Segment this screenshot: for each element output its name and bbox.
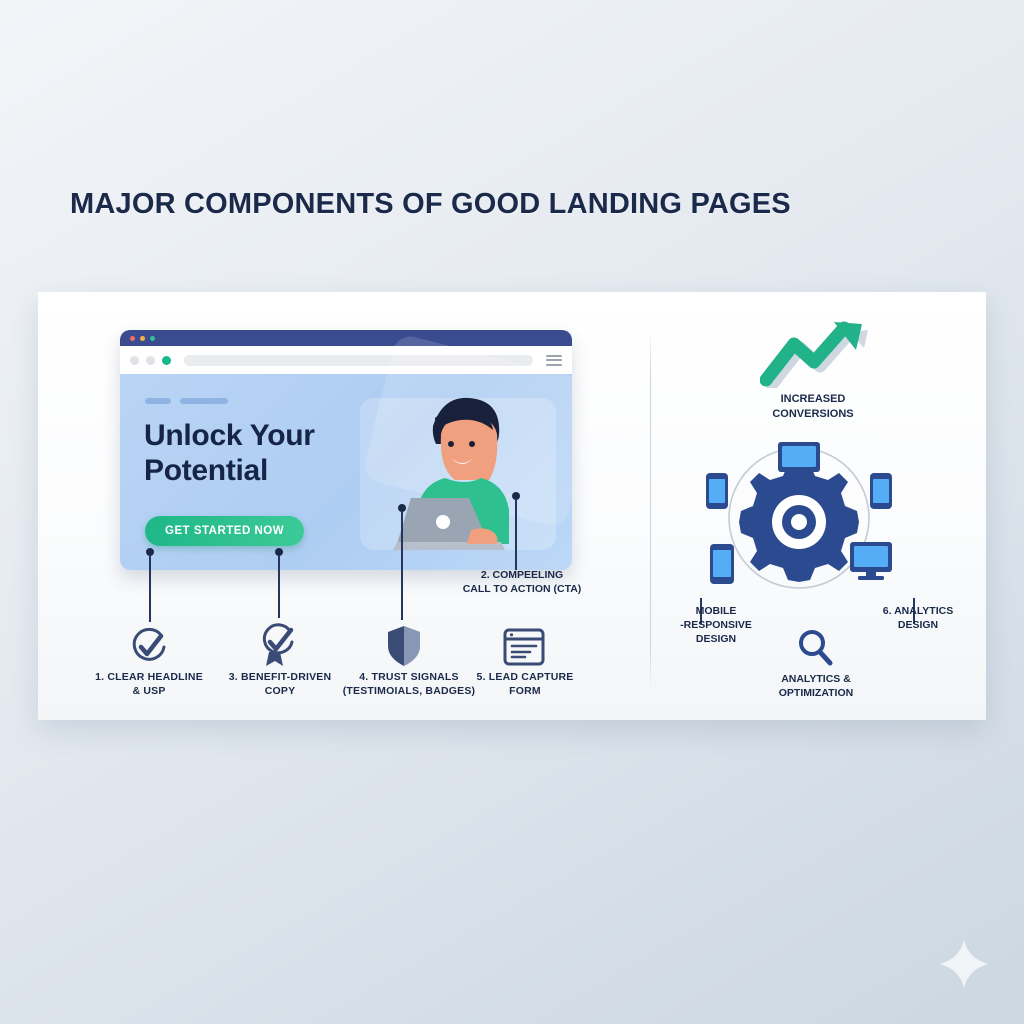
component-1-label: 1. CLEAR HEADLINE & USP <box>79 670 219 698</box>
component-3[interactable] <box>257 622 301 673</box>
connector-line-1 <box>149 556 151 622</box>
analytics-design-line1: 6. ANALYTICS <box>860 604 976 618</box>
infographic-canvas: MAJOR COMPONENTS OF GOOD LANDING PAGES U… <box>0 0 1024 1024</box>
mobile-responsive-line3: DESIGN <box>654 632 778 646</box>
shield-icon <box>385 624 423 668</box>
search-icon <box>796 628 834 666</box>
window-minimize-dot-icon[interactable] <box>140 336 145 341</box>
increased-conversions-line1: INCREASED <box>748 392 878 407</box>
cta-callout-line2: CALL TO ACTION (CTA) <box>452 582 592 596</box>
component-4-label-line1: 4. TRUST SIGNALS <box>331 670 487 684</box>
analytics-optimization-line1: ANALYTICS & <box>752 672 880 686</box>
component-1-label-line2: & USP <box>79 684 219 698</box>
phone-icon-left-lower <box>710 544 734 584</box>
component-1[interactable] <box>128 626 170 673</box>
hamburger-icon[interactable] <box>546 355 562 366</box>
window-close-dot-icon[interactable] <box>130 336 135 341</box>
component-3-label-line1: 3. BENEFIT-DRIVEN <box>209 670 351 684</box>
component-1-label-line1: 1. CLEAR HEADLINE <box>79 670 219 684</box>
cta-callout: 2. COMPEELING CALL TO ACTION (CTA) <box>452 568 592 596</box>
page-title: MAJOR COMPONENTS OF GOOD LANDING PAGES <box>70 188 791 221</box>
increased-conversions-line2: CONVERSIONS <box>748 407 878 422</box>
phone-icon-right-upper <box>870 473 892 509</box>
toolbar-dot-2-icon <box>146 356 155 365</box>
increased-conversions-label: INCREASED CONVERSIONS <box>748 392 878 423</box>
component-5[interactable] <box>503 628 545 671</box>
monitor-icon-bottom-right <box>850 542 892 580</box>
connector-dot-3 <box>398 504 406 512</box>
check-circle-icon <box>128 626 170 668</box>
mobile-responsive-label: MOBILE -RESPONSIVE DESIGN <box>654 604 778 647</box>
connector-line-3 <box>401 512 403 620</box>
cta-callout-line1: 2. COMPEELING <box>452 568 592 582</box>
mobile-responsive-line2: -RESPONSIVE <box>654 618 778 632</box>
cta-button[interactable]: GET STARTED NOW <box>145 516 304 546</box>
badge-check-icon <box>257 622 301 668</box>
hero-headline: Unlock Your Potential <box>144 418 384 489</box>
analytics-optimization-line2: OPTIMIZATION <box>752 686 880 700</box>
mobile-responsive-line1: MOBILE <box>654 604 778 618</box>
component-5-label: 5. LEAD CAPTURE FORM <box>466 670 584 698</box>
hero-section: Unlock Your Potential GET STARTED NOW <box>120 374 572 570</box>
connector-line-4 <box>515 500 517 570</box>
connector-dot-4 <box>512 492 520 500</box>
component-5-label-line2: FORM <box>466 684 584 698</box>
trending-up-arrow-icon <box>760 318 868 388</box>
analytics-design-line2: DESIGN <box>860 618 976 632</box>
connector-line-2 <box>278 556 280 618</box>
component-4[interactable] <box>385 624 423 673</box>
kicker-bars <box>145 398 228 404</box>
toolbar-dot-1-icon <box>130 356 139 365</box>
connector-dot-1 <box>146 548 154 556</box>
component-4-label: 4. TRUST SIGNALS (TESTIMOIALS, BADGES) <box>331 670 487 698</box>
component-3-label: 3. BENEFIT-DRIVEN COPY <box>209 670 351 698</box>
toolbar-dot-3-icon <box>162 356 171 365</box>
analytics-optimization-label: ANALYTICS & OPTIMIZATION <box>752 672 880 700</box>
component-5-label-line1: 5. LEAD CAPTURE <box>466 670 584 684</box>
analytics-design-label: 6. ANALYTICS DESIGN <box>860 604 976 632</box>
form-window-icon <box>503 628 545 666</box>
four-point-star-icon <box>938 938 990 990</box>
window-maximize-dot-icon[interactable] <box>150 336 155 341</box>
phone-icon-left-upper <box>706 473 728 509</box>
component-4-label-line2: (TESTIMOIALS, BADGES) <box>331 684 487 698</box>
browser-mockup: Unlock Your Potential GET STARTED NOW <box>120 330 572 570</box>
device-gear-cluster <box>690 440 908 602</box>
browser-title-bar <box>120 330 572 346</box>
analytics-optimization-icon-wrap[interactable] <box>796 628 834 671</box>
connector-dot-2 <box>275 548 283 556</box>
panel-divider <box>650 330 651 690</box>
component-3-label-line2: COPY <box>209 684 351 698</box>
